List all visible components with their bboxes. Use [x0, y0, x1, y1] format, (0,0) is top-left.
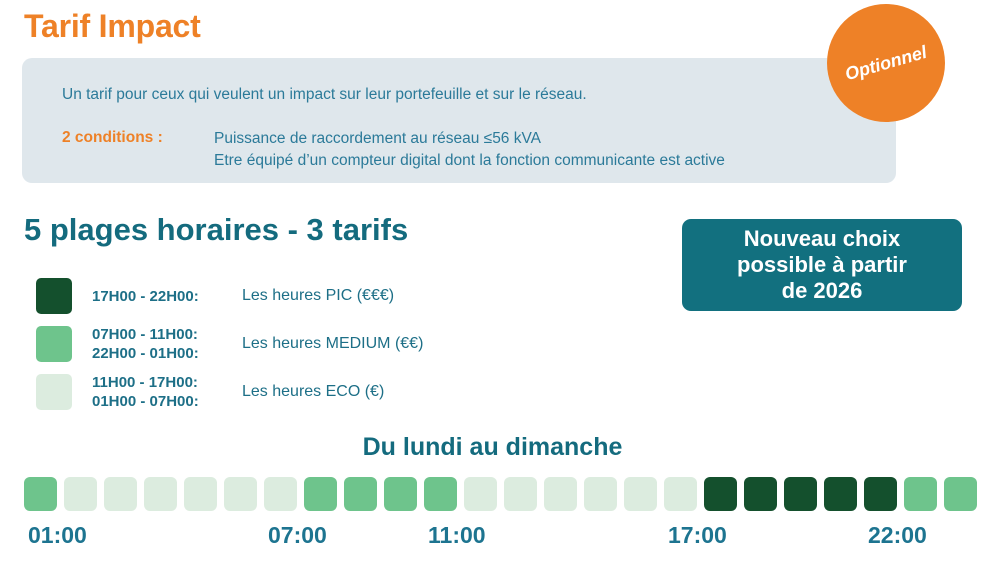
condition-item: Etre équipé d’un compteur digital dont l…: [214, 150, 725, 172]
legend-swatch-medium: [36, 326, 72, 362]
legend-row-eco: 11H00 - 17H00: 01H00 - 07H00: Les heures…: [36, 368, 423, 416]
axis-label-0700: 07:00: [268, 522, 327, 549]
section-title: 5 plages horaires - 3 tarifs: [24, 212, 408, 248]
timeline-cell-2200: [864, 477, 897, 511]
timeline-strip: [24, 477, 969, 511]
optional-badge: Optionnel: [827, 4, 945, 122]
legend-name-eco: Les heures ECO (€): [242, 383, 384, 401]
timeline-cell-1300: [504, 477, 537, 511]
conditions-list: Puissance de raccordement au réseau ≤56 …: [214, 128, 725, 172]
axis-label-1100: 11:00: [428, 522, 486, 549]
conditions-label: 2 conditions :: [62, 129, 163, 147]
timeline-cell-1000: [384, 477, 417, 511]
axis-label-0100: 01:00: [28, 522, 87, 549]
timeline-cell-1200: [464, 477, 497, 511]
new-choice-callout-text: Nouveau choix possible à partir de 2026: [737, 226, 907, 304]
timeline-cell-1500: [584, 477, 617, 511]
timeline-cell-1800: [704, 477, 737, 511]
page-title: Tarif Impact: [24, 8, 201, 45]
timeline-cell-1700: [664, 477, 697, 511]
timeline-cell-2000: [784, 477, 817, 511]
legend-swatch-pic: [36, 278, 72, 314]
timeline-cell-2300: [904, 477, 937, 511]
timeline-cell-0400: [144, 477, 177, 511]
timeline-cell-2100: [824, 477, 857, 511]
legend-swatch-eco: [36, 374, 72, 410]
legend-hours-eco: 11H00 - 17H00: 01H00 - 07H00:: [92, 373, 242, 411]
timeline-cell-0800: [304, 477, 337, 511]
callout-line: de 2026: [737, 278, 907, 304]
timeline-cell-1600: [624, 477, 657, 511]
timeline-cell-0300: [104, 477, 137, 511]
timeline-cell-0200: [64, 477, 97, 511]
tariff-infographic: Tarif Impact Un tarif pour ceux qui veul…: [0, 0, 985, 569]
intro-text: Un tarif pour ceux qui veulent un impact…: [62, 86, 587, 104]
legend-hours-line: 11H00 - 17H00:: [92, 373, 242, 392]
timeline-cell-0900: [344, 477, 377, 511]
new-choice-callout: Nouveau choix possible à partir de 2026: [682, 219, 962, 311]
timeline-title: Du lundi au dimanche: [0, 433, 985, 462]
legend-row-pic: 17H00 - 22H00: Les heures PIC (€€€): [36, 272, 423, 320]
timeline-cell-0500: [184, 477, 217, 511]
condition-item: Puissance de raccordement au réseau ≤56 …: [214, 128, 725, 150]
axis-label-1700: 17:00: [668, 522, 727, 549]
legend-hours-pic: 17H00 - 22H00:: [92, 287, 242, 306]
legend-hours-medium: 07H00 - 11H00: 22H00 - 01H00:: [92, 325, 242, 363]
timeline-cell-0600: [224, 477, 257, 511]
optional-badge-label: Optionnel: [843, 41, 930, 84]
timeline-cell-0700: [264, 477, 297, 511]
legend-hours-line: 22H00 - 01H00:: [92, 344, 242, 363]
legend-row-medium: 07H00 - 11H00: 22H00 - 01H00: Les heures…: [36, 320, 423, 368]
legend-name-medium: Les heures MEDIUM (€€): [242, 335, 423, 353]
timeline-cell-0100: [24, 477, 57, 511]
callout-line: possible à partir: [737, 252, 907, 278]
timeline-cell-1100: [424, 477, 457, 511]
axis-label-2200: 22:00: [868, 522, 927, 549]
legend-hours-line: 07H00 - 11H00:: [92, 325, 242, 344]
timeline-cell-1400: [544, 477, 577, 511]
tariff-legend: 17H00 - 22H00: Les heures PIC (€€€) 07H0…: [36, 272, 423, 416]
legend-hours-line: 01H00 - 07H00:: [92, 392, 242, 411]
timeline-cell-1900: [744, 477, 777, 511]
timeline-axis: 01:0007:0011:0017:0022:00: [0, 522, 985, 556]
legend-name-pic: Les heures PIC (€€€): [242, 287, 394, 305]
callout-line: Nouveau choix: [737, 226, 907, 252]
legend-hours-line: 17H00 - 22H00:: [92, 287, 242, 306]
timeline-cell-2400: [944, 477, 977, 511]
